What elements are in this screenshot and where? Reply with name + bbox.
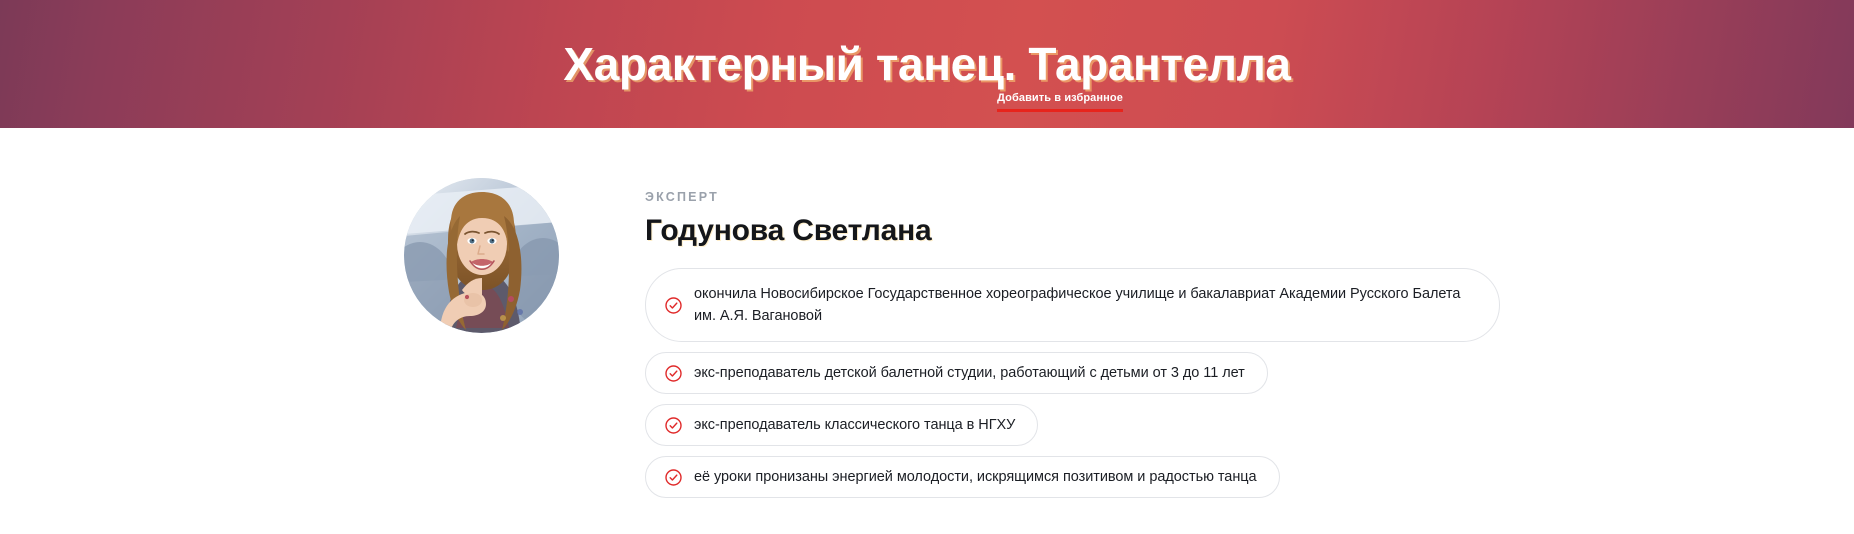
page-hero-banner: Характерный танец. Тарантелла Добавить в… [0,0,1854,128]
expert-section: ЭКСПЕРТ Годунова Светлана окончила Новос… [0,128,1854,498]
add-to-favorites-link[interactable]: Добавить в избранное [997,91,1123,112]
expert-avatar [404,178,559,333]
check-circle-icon [665,417,682,434]
expert-info: ЭКСПЕРТ Годунова Светлана окончила Новос… [645,178,1854,498]
favorite-action-wrap: Добавить в избранное [0,88,1854,112]
credential-text: экс-преподаватель детской балетной студи… [694,362,1245,384]
credential-text: экс-преподаватель классического танца в … [694,414,1015,436]
page-title: Характерный танец. Тарантелла [0,33,1854,95]
expert-credentials-list: окончила Новосибирское Государственное х… [645,268,1854,498]
credential-chip: экс-преподаватель классического танца в … [645,404,1038,446]
credential-chip: её уроки пронизаны энергией молодости, и… [645,456,1280,498]
credential-chip: окончила Новосибирское Государственное х… [645,268,1500,342]
credential-text: окончила Новосибирское Государственное х… [694,283,1477,327]
check-circle-icon [665,297,682,314]
expert-name: Годунова Светлана [645,212,1854,250]
credential-chip: экс-преподаватель детской балетной студи… [645,352,1268,394]
hero-inner: Характерный танец. Тарантелла Добавить в… [0,0,1854,128]
check-circle-icon [665,469,682,486]
credential-text: её уроки пронизаны энергией молодости, и… [694,466,1257,488]
avatar-photo-illustration [404,178,559,333]
expert-kicker-label: ЭКСПЕРТ [645,189,1854,205]
check-circle-icon [665,365,682,382]
